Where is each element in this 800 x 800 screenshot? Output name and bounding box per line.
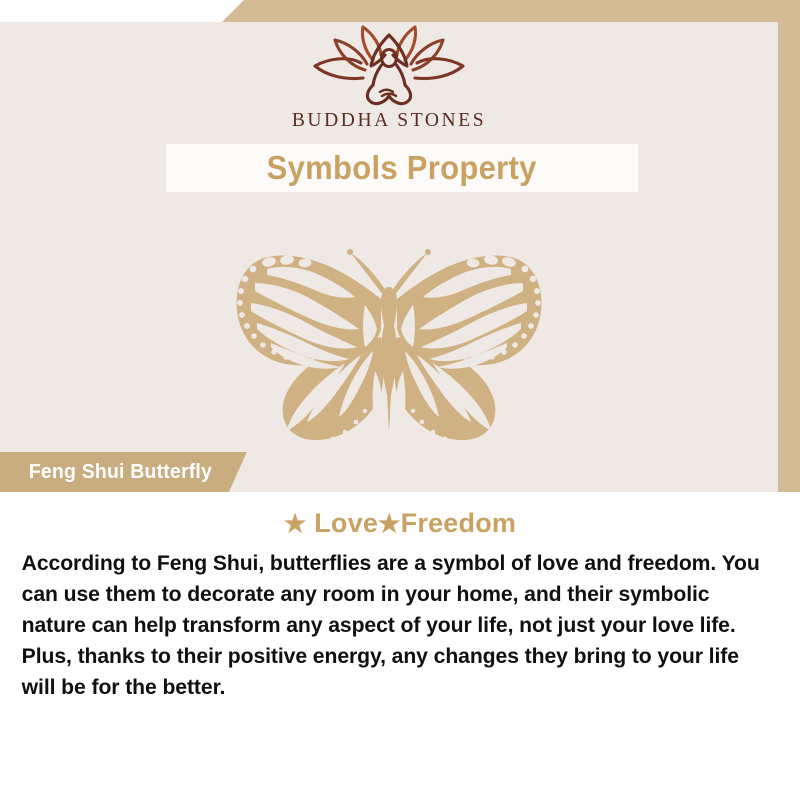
description-section: ★ Love★Freedom According to Feng Shui, b… xyxy=(0,492,800,800)
description-paragraph: According to Feng Shui, butterflies are … xyxy=(0,539,788,703)
title-strip: Symbols Property xyxy=(166,144,638,192)
page-title: Symbols Property xyxy=(267,149,537,187)
star-icon-middle: ★ xyxy=(378,510,401,538)
tagline: ★ Love★Freedom xyxy=(0,492,800,539)
brand-wordmark: BUDDHA STONES xyxy=(292,110,486,132)
feng-shui-banner: Feng Shui Butterfly xyxy=(0,452,247,492)
brand-logo: BUDDHA STONES xyxy=(0,22,778,142)
tagline-word-love: Love xyxy=(314,508,378,538)
lotus-meditating-figure-icon xyxy=(301,22,477,108)
butterfly-icon xyxy=(205,225,573,457)
hero-illustration xyxy=(0,222,778,460)
star-icon-left: ★ xyxy=(284,510,307,538)
promo-graphic: BUDDHA STONES Symbols Property xyxy=(0,0,800,800)
tagline-word-freedom: Freedom xyxy=(401,508,516,538)
banner-label: Feng Shui Butterfly xyxy=(29,460,212,484)
